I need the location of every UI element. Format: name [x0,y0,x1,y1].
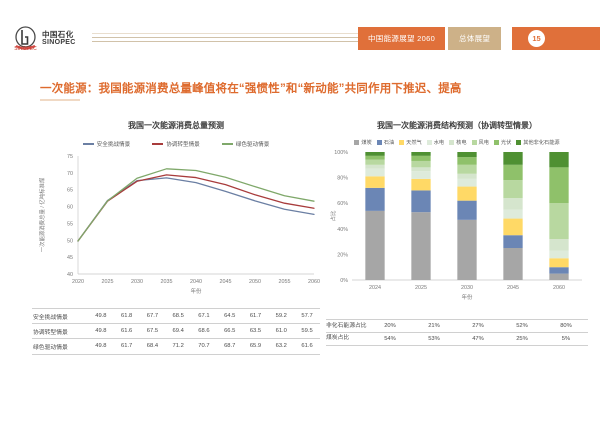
header-page-band: 15 [512,27,600,50]
table-cell: 61.6 [294,339,320,354]
legend-item-green[interactable]: 绿色驱动情景 [222,140,270,148]
legend-swatch-7 [516,140,521,145]
table-cell: 49.8 [88,324,114,339]
svg-text:年份: 年份 [191,287,202,295]
table-cell: 61.6 [114,324,140,339]
table-row: 非化石能源占比20%21%27%52%80% [326,320,588,333]
left-chart-title: 我国一次能源消费总量预测 [32,120,320,131]
svg-text:2060: 2060 [308,279,320,285]
table-cell: 65.9 [243,339,269,354]
table-cell: 5% [544,332,588,345]
table-cell: 68.6 [191,324,217,339]
legend-label-5: 风电 [479,139,489,146]
svg-text:40%: 40% [337,227,348,233]
table-row: 绿色驱动情景49.861.768.471.270.768.765.963.261… [32,339,320,354]
legend-label-1: 石油 [384,139,394,146]
svg-text:2025: 2025 [102,279,114,285]
table-cell: 54% [368,332,412,345]
legend-swatch-4 [449,140,454,145]
legend-item-6[interactable]: 光伏 [494,139,511,146]
svg-text:年份: 年份 [462,293,473,301]
legend-label-coordinated: 协调转型情景 [166,140,200,148]
legend-label-6: 光伏 [501,139,511,146]
svg-text:2050: 2050 [249,279,261,285]
svg-text:20%: 20% [337,252,348,258]
legend-swatch-0 [354,140,359,145]
logo-name-cn: 中国石化 [42,31,76,39]
line-chart: 4045505560657075202020252030203520402045… [32,150,320,305]
legend-swatch-5 [472,140,477,145]
stacked-bar-svg: 0%20%40%60%80%100%占比20242025203020452060… [326,146,588,306]
table-row-label: 协调转型情景 [32,324,88,339]
table-cell: 71.2 [165,339,191,354]
legend-item-1[interactable]: 石油 [377,139,394,146]
right-data-table: 非化石能源占比20%21%27%52%80%煤炭占比54%53%47%25%5% [326,319,588,346]
table-cell: 52% [500,320,544,333]
legend-swatch-green [222,143,233,145]
table-cell: 21% [412,320,456,333]
svg-text:100%: 100% [334,150,348,156]
table-cell: 68.5 [165,309,191,324]
legend-item-5[interactable]: 风电 [472,139,489,146]
page-title: 一次能源：我国能源消费总量峰值将在“强惯性”和“新动能”共同作用下推迟、提高 [40,80,462,96]
table-row: 协调转型情景49.861.667.569.468.666.563.561.059… [32,324,320,339]
table-cell: 66.5 [217,324,243,339]
svg-text:占比: 占比 [329,210,337,221]
table-cell: 63.5 [243,324,269,339]
svg-text:70: 70 [67,171,73,177]
legend-swatch-coordinated [152,143,163,145]
left-chart-legend: 安全挑战情景 协调转型情景 绿色驱动情景 [32,140,320,148]
table-cell: 61.7 [114,339,140,354]
legend-swatch-security [83,143,94,145]
legend-item-7[interactable]: 其他非化石能源 [516,139,559,146]
table-row: 安全挑战情景49.861.867.768.567.164.561.759.257… [32,309,320,324]
svg-text:2030: 2030 [131,279,143,285]
table-cell: 61.0 [268,324,294,339]
table-cell: 61.7 [243,309,269,324]
legend-label-2: 天然气 [406,139,422,146]
table-cell: 25% [500,332,544,345]
legend-swatch-2 [399,140,404,145]
slide-root: SINOPEC 中国石化 SINOPEC 中国能源展望 2060 总体展望 15… [0,0,600,427]
table-cell: 59.2 [268,309,294,324]
right-chart-panel: 我国一次能源消费结构预测（协调转型情景） 煤炭石油天然气水电核电风电光伏其他非化… [326,112,588,357]
right-chart-legend: 煤炭石油天然气水电核电风电光伏其他非化石能源 [326,139,588,146]
svg-text:2035: 2035 [161,279,173,285]
table-cell: 68.4 [140,339,166,354]
table-cell: 53% [412,332,456,345]
table-cell: 61.8 [114,309,140,324]
svg-text:2020: 2020 [72,279,84,285]
table-cell: 67.7 [140,309,166,324]
table-cell: 49.8 [88,339,114,354]
header-section-name: 总体展望 [448,27,501,50]
table-cell: 69.4 [165,324,191,339]
svg-text:2055: 2055 [279,279,291,285]
legend-item-coordinated[interactable]: 协调转型情景 [152,140,200,148]
table-cell: 20% [368,320,412,333]
legend-label-green: 绿色驱动情景 [236,140,270,148]
table-cell: 49.8 [88,309,114,324]
table-cell: 67.1 [191,309,217,324]
page-number-badge: 15 [528,30,545,47]
legend-label-security: 安全挑战情景 [97,140,131,148]
svg-text:2025: 2025 [415,285,427,291]
table-cell: 68.7 [217,339,243,354]
right-chart-title: 我国一次能源消费结构预测（协调转型情景） [326,120,588,131]
legend-label-4: 核电 [456,139,466,146]
left-data-table: 安全挑战情景49.861.867.768.567.164.561.759.257… [32,308,320,355]
svg-text:60%: 60% [337,201,348,207]
svg-text:50: 50 [67,238,73,244]
svg-text:40: 40 [67,272,73,278]
legend-swatch-3 [427,140,432,145]
table-cell: 47% [456,332,500,345]
line-chart-svg: 4045505560657075202020252030203520402045… [32,150,320,300]
legend-swatch-6 [494,140,499,145]
table-cell: 70.7 [191,339,217,354]
legend-label-7: 其他非化石能源 [523,139,559,146]
title-underline [40,99,80,101]
svg-text:0%: 0% [340,278,348,284]
logo-name-en: SINOPEC [42,39,76,46]
svg-text:65: 65 [67,188,73,194]
legend-label-0: 煤炭 [361,139,371,146]
left-chart-panel: 我国一次能源消费总量预测 安全挑战情景 协调转型情景 绿色驱动情景 404550… [32,112,320,357]
table-row-label: 煤炭占比 [326,332,368,345]
svg-text:60: 60 [67,205,73,211]
legend-item-3[interactable]: 水电 [427,139,444,146]
legend-item-0[interactable]: 煤炭 [354,139,371,146]
svg-text:2045: 2045 [220,279,232,285]
svg-text:75: 75 [67,154,73,160]
table-cell: 80% [544,320,588,333]
table-row: 煤炭占比54%53%47%25%5% [326,332,588,345]
svg-text:SINOPEC: SINOPEC [14,46,37,51]
legend-item-security[interactable]: 安全挑战情景 [83,140,131,148]
table-cell: 57.7 [294,309,320,324]
svg-text:2030: 2030 [461,285,473,291]
svg-text:一次能源消费总量 / 亿吨标准煤: 一次能源消费总量 / 亿吨标准煤 [38,177,46,252]
svg-text:2060: 2060 [553,285,565,291]
legend-item-4[interactable]: 核电 [449,139,466,146]
table-row-label: 非化石能源占比 [326,320,368,333]
legend-item-2[interactable]: 天然气 [399,139,422,146]
table-row-label: 安全挑战情景 [32,309,88,324]
legend-label-3: 水电 [434,139,444,146]
slide-header: SINOPEC 中国石化 SINOPEC 中国能源展望 2060 总体展望 15 [0,0,600,62]
table-cell: 63.2 [268,339,294,354]
table-cell: 67.5 [140,324,166,339]
svg-text:2045: 2045 [507,285,519,291]
legend-swatch-1 [377,140,382,145]
svg-text:2040: 2040 [190,279,202,285]
svg-text:2024: 2024 [369,285,381,291]
table-cell: 59.5 [294,324,320,339]
table-row-label: 绿色驱动情景 [32,339,88,354]
svg-text:80%: 80% [337,176,348,182]
svg-text:45: 45 [67,255,73,261]
header-book-title: 中国能源展望 2060 [358,27,445,50]
stacked-bar-chart: 0%20%40%60%80%100%占比20242025203020452060… [326,146,588,311]
table-cell: 64.5 [217,309,243,324]
table-cell: 27% [456,320,500,333]
logo-wordmark: 中国石化 SINOPEC [42,31,76,46]
svg-text:55: 55 [67,221,73,227]
sinopec-logo-icon: SINOPEC [14,26,37,51]
sinopec-logo: SINOPEC 中国石化 SINOPEC [14,26,76,51]
